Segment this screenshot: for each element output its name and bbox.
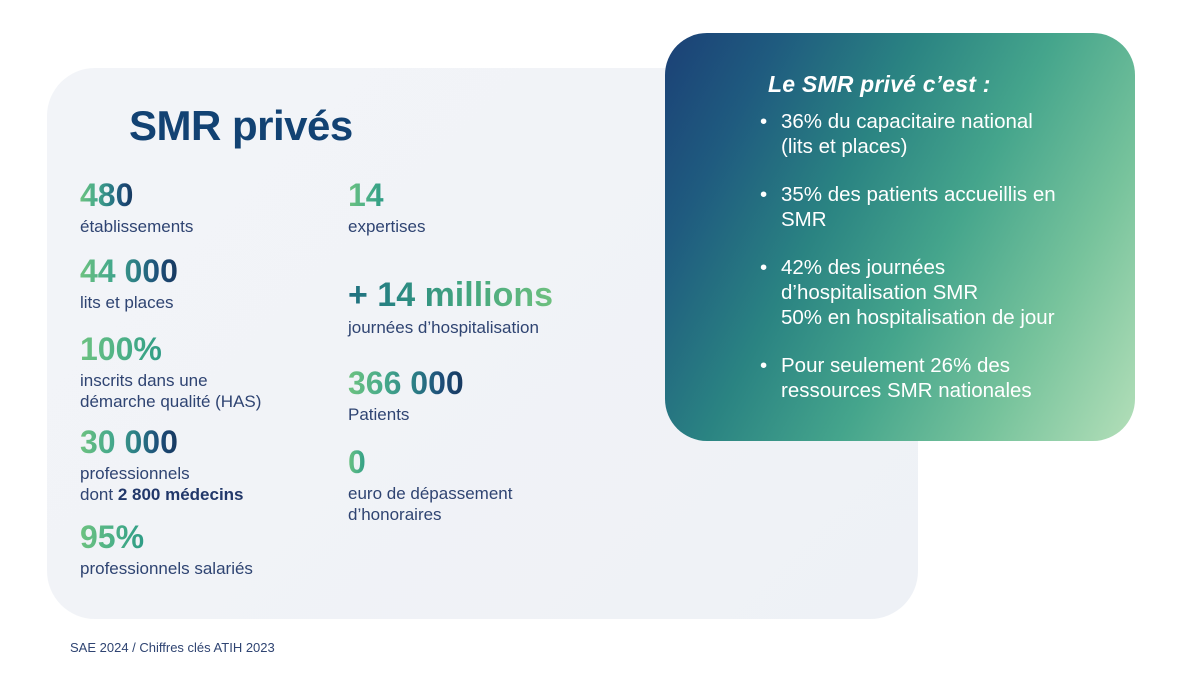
stat-hospitalization-days: + 14 millions journées d’hospitalisation — [348, 277, 553, 338]
stat-beds-places: 44 000 lits et places — [80, 254, 178, 313]
stat-label: euro de dépassement d’honoraires — [348, 483, 512, 527]
stat-value: + 14 millions — [348, 277, 553, 314]
stat-patients: 366 000 Patients — [348, 366, 464, 425]
stat-label: professionnels dont 2 800 médecins — [80, 463, 244, 507]
stat-zero-extra-fees: 0 euro de dépassement d’honoraires — [348, 445, 512, 526]
stat-value: 95% — [80, 520, 144, 555]
stat-label: professionnels salariés — [80, 558, 253, 580]
source-note: SAE 2024 / Chiffres clés ATIH 2023 — [70, 640, 275, 655]
stat-value: 14 — [348, 178, 384, 213]
stat-value: 480 — [80, 178, 133, 213]
panel-heading: Le SMR privé c’est : — [768, 71, 991, 98]
stat-value: 44 000 — [80, 254, 178, 289]
highlights-panel: Le SMR privé c’est : • 36% du capacitair… — [665, 33, 1135, 441]
infographic-root: SMR privés 480 établissements 44 000 lit… — [0, 0, 1200, 678]
stat-value: 0 — [348, 445, 366, 480]
stat-expertises: 14 expertises — [348, 178, 425, 237]
bullet-dot-icon: • — [760, 182, 767, 207]
stat-label-line-1: euro de dépassement — [348, 484, 512, 503]
page-title: SMR privés — [129, 102, 353, 150]
list-item: • 35% des patients accueillis en SMR — [757, 182, 1117, 233]
stat-label-line-2-bold: 2 800 médecins — [118, 485, 244, 504]
stat-label: journées d’hospitalisation — [348, 317, 553, 339]
stat-label-line-1: inscrits dans une — [80, 371, 208, 390]
stat-label-line-2: d’honoraires — [348, 505, 442, 524]
stat-label: lits et places — [80, 292, 178, 314]
stat-establishments: 480 établissements — [80, 178, 193, 237]
list-item: • Pour seulement 26% des ressources SMR … — [757, 353, 1117, 404]
list-item: • 42% des journées d’hospitalisation SMR… — [757, 255, 1117, 331]
stat-label-line-2: démarche qualité (HAS) — [80, 392, 261, 411]
stat-label: établissements — [80, 216, 193, 238]
stat-label-line-2-prefix: dont — [80, 485, 118, 504]
list-item-text: 35% des patients accueillis en SMR — [781, 182, 1117, 233]
bullet-dot-icon: • — [760, 353, 767, 378]
stat-label: inscrits dans une démarche qualité (HAS) — [80, 370, 261, 414]
list-item-text: 42% des journées d’hospitalisation SMR 5… — [781, 255, 1117, 331]
stat-quality-certified: 100% inscrits dans une démarche qualité … — [80, 332, 261, 413]
stat-label-line-1: professionnels — [80, 464, 190, 483]
stat-professionals: 30 000 professionnels dont 2 800 médecin… — [80, 425, 244, 506]
bullet-dot-icon: • — [760, 109, 767, 134]
stat-label: Patients — [348, 404, 464, 426]
highlights-list: • 36% du capacitaire national (lits et p… — [757, 109, 1117, 404]
stat-label: expertises — [348, 216, 425, 238]
stat-value: 366 000 — [348, 366, 464, 401]
list-item-text: Pour seulement 26% des ressources SMR na… — [781, 353, 1117, 404]
list-item-text: 36% du capacitaire national (lits et pla… — [781, 109, 1117, 160]
stat-value: 100% — [80, 332, 162, 367]
stat-salaried: 95% professionnels salariés — [80, 520, 253, 579]
stat-value: 30 000 — [80, 425, 178, 460]
bullet-dot-icon: • — [760, 255, 767, 280]
list-item: • 36% du capacitaire national (lits et p… — [757, 109, 1117, 160]
